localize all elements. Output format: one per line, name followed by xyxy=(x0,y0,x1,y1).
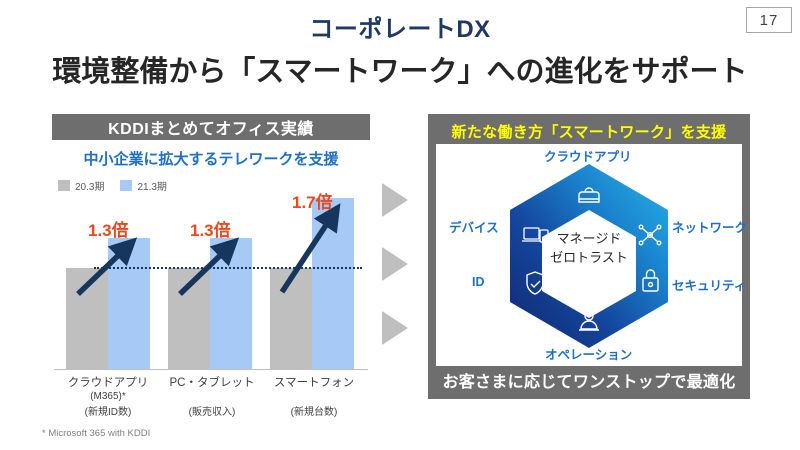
smartwork-panel: 新たな働き方「スマートワーク」を支援 xyxy=(428,114,750,399)
legend-item: 20.3期 xyxy=(58,178,104,193)
triangle-right-icon xyxy=(382,311,408,345)
eyebrow-title: コーポレートDX xyxy=(0,9,800,44)
chart-axis-line xyxy=(54,369,368,371)
footnote: * Microsoft 365 with KDDI xyxy=(42,428,150,439)
bar-21.3期-PC・タブレット xyxy=(210,238,252,369)
node-label-security: セキュリティ xyxy=(672,275,746,294)
legend-item: 21.3期 xyxy=(120,178,166,193)
bar-20.3期-クラウドアプリ xyxy=(66,268,108,369)
smartwork-panel-footer: お客さまに応じてワンストップで最適化 xyxy=(436,366,742,394)
chart-header-bar: KDDIまとめてオフィス実績 xyxy=(52,114,370,140)
legend-label: 20.3期 xyxy=(75,178,104,193)
growth-label-1: 1.3倍 xyxy=(88,216,129,241)
triangle-right-icon xyxy=(382,247,408,281)
category-unit: (販売収入) xyxy=(156,407,268,420)
chart-subtitle: 中小企業に拡大するテレワークを支援 xyxy=(52,148,370,169)
chart-category-labels: クラウドアプリ (M365)* (新規ID数) PC・タブレット (販売収入) … xyxy=(52,376,370,428)
zero-trust-diagram: マネージド ゼロトラスト クラウドアプリ ネットワーク セキュリティ オペレーシ… xyxy=(436,144,742,366)
page-title: 環境整備から「スマートワーク」への進化をサポート xyxy=(0,48,800,90)
growth-label-2: 1.3倍 xyxy=(190,216,231,241)
chart-reference-line xyxy=(94,267,362,269)
center-line-2: ゼロトラスト xyxy=(436,249,742,268)
category-name: PC・タブレット xyxy=(156,376,268,391)
category-subnote: (M365)* xyxy=(52,391,164,404)
slide-canvas: 17 コーポレートDX 環境整備から「スマートワーク」への進化をサポート KDD… xyxy=(0,0,800,450)
legend-label: 21.3期 xyxy=(137,178,166,193)
category-unit: (新規ID数) xyxy=(52,407,164,420)
bar-20.3期-PC・タブレット xyxy=(168,268,210,369)
category-unit: (新規台数) xyxy=(258,407,370,420)
node-label-cloud-app: クラウドアプリ xyxy=(544,146,632,165)
triangle-right-icon xyxy=(382,183,408,217)
legend-swatch-icon xyxy=(120,180,132,191)
smartwork-panel-header: 新たな働き方「スマートワーク」を支援 xyxy=(436,119,742,144)
chart-panel: KDDIまとめてオフィス実績 中小企業に拡大するテレワークを支援 20.3期 2… xyxy=(52,114,370,410)
transition-arrows xyxy=(382,183,416,345)
category-name: スマートフォン xyxy=(258,376,370,391)
node-label-id: ID xyxy=(472,275,485,289)
growth-label-3: 1.7倍 xyxy=(292,188,333,213)
legend-swatch-icon xyxy=(58,180,70,191)
category-label-3: スマートフォン (新規台数) xyxy=(258,376,370,420)
bar-21.3期-クラウドアプリ xyxy=(108,238,150,369)
category-name: クラウドアプリ xyxy=(52,376,164,391)
category-label-2: PC・タブレット (販売収入) xyxy=(156,376,268,420)
category-label-1: クラウドアプリ (M365)* (新規ID数) xyxy=(52,376,164,419)
bar-20.3期-スマートフォン xyxy=(270,268,312,369)
node-label-device: デバイス xyxy=(449,217,499,236)
chart-plot-area: 1.3倍 1.3倍 1.7倍 xyxy=(52,197,370,372)
node-label-operation: オペレーション xyxy=(545,344,632,363)
bar-21.3期-スマートフォン xyxy=(312,198,354,369)
node-label-network: ネットワーク xyxy=(672,217,747,236)
